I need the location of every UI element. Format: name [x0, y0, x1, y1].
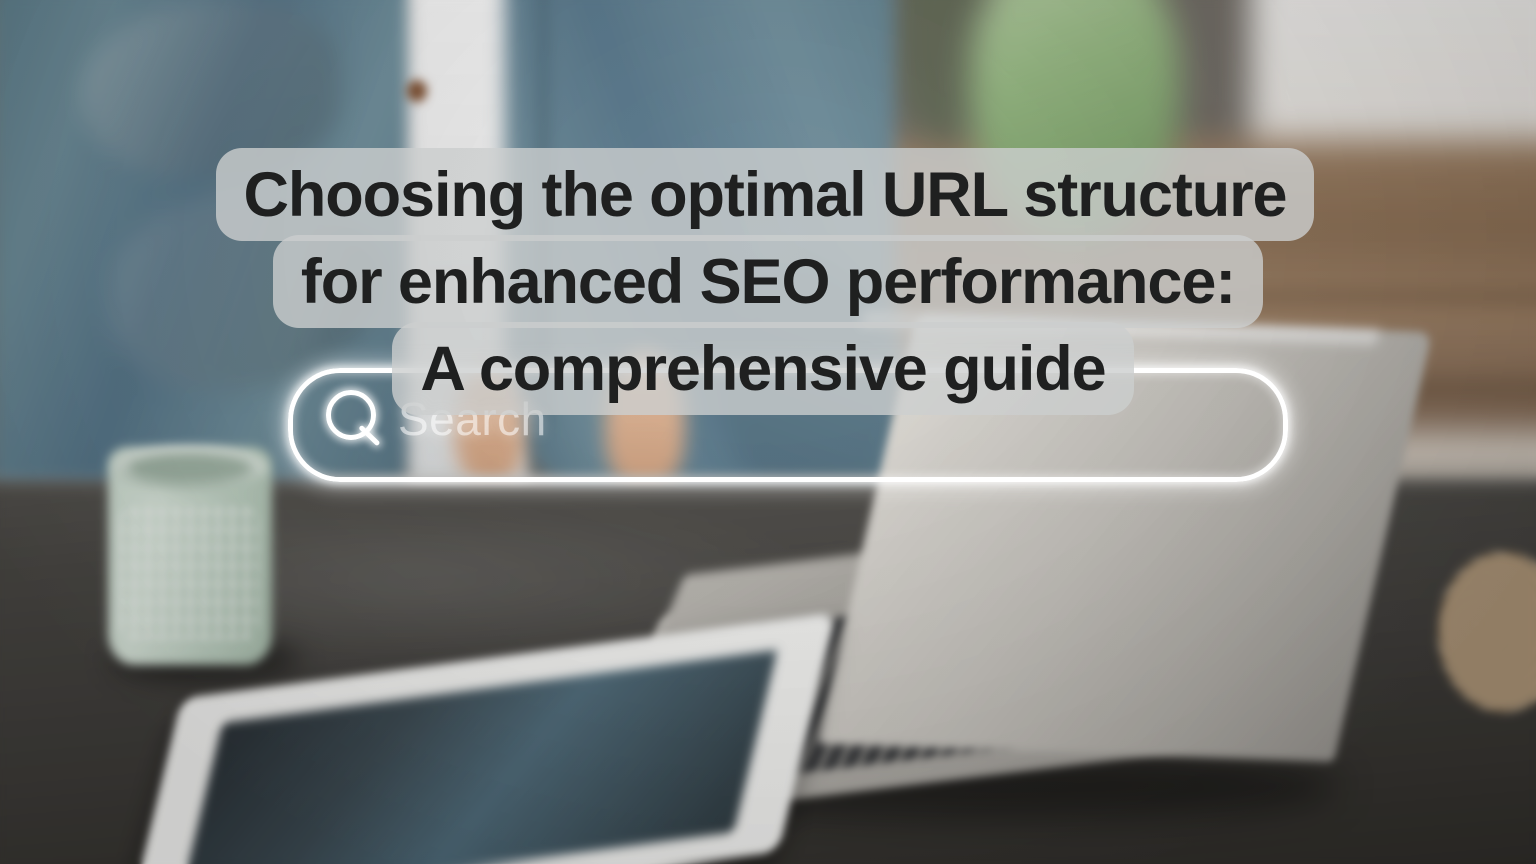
banner-canvas: Search Choosing the optimal URL structur…: [0, 0, 1536, 864]
title-line-2: for enhanced SEO performance:: [0, 235, 1536, 328]
title-line-2-text: for enhanced SEO performance:: [273, 235, 1263, 328]
title-line-1-text: Choosing the optimal URL structure: [216, 148, 1315, 241]
title-line-3-text: A comprehensive guide: [392, 322, 1133, 415]
banner-title: Choosing the optimal URL structure for e…: [0, 148, 1536, 415]
title-line-1: Choosing the optimal URL structure: [0, 148, 1536, 241]
title-line-3: A comprehensive guide: [0, 322, 1536, 415]
shirt-button: [407, 80, 427, 102]
mug-interior: [128, 453, 252, 483]
mug-texture: [118, 505, 260, 640]
